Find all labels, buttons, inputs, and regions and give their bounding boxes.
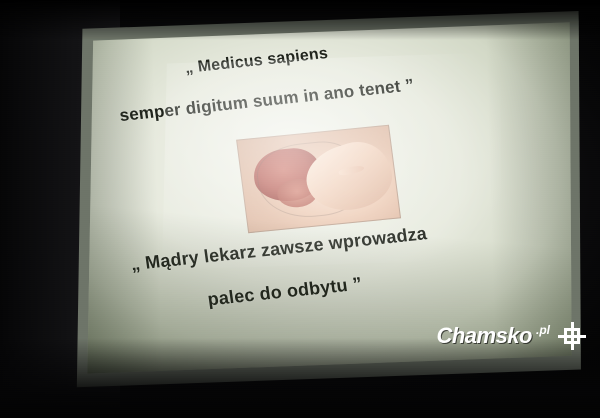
finger-shape	[337, 165, 364, 177]
watermark: Chamsko .pl	[436, 322, 586, 350]
floor-shadow	[0, 338, 600, 418]
watermark-square-icon	[564, 328, 580, 344]
slide-line-3: „ Mądry lekarz zawsze wprowadza	[129, 224, 428, 276]
watermark-suffix: .pl	[536, 323, 550, 337]
slide-line-4: palec do odbytu ”	[206, 274, 363, 311]
medical-illustration	[235, 125, 400, 234]
ceiling-shadow	[0, 0, 600, 40]
photograph: „ Medicus sapiens semper digitum suum in…	[0, 0, 600, 418]
slide-line-2: semper digitum suum in ano tenet ”	[118, 76, 415, 127]
watermark-crosshair-icon	[558, 322, 586, 350]
slide-line-1: „ Medicus sapiens	[184, 45, 329, 78]
watermark-text: Chamsko	[436, 323, 532, 349]
